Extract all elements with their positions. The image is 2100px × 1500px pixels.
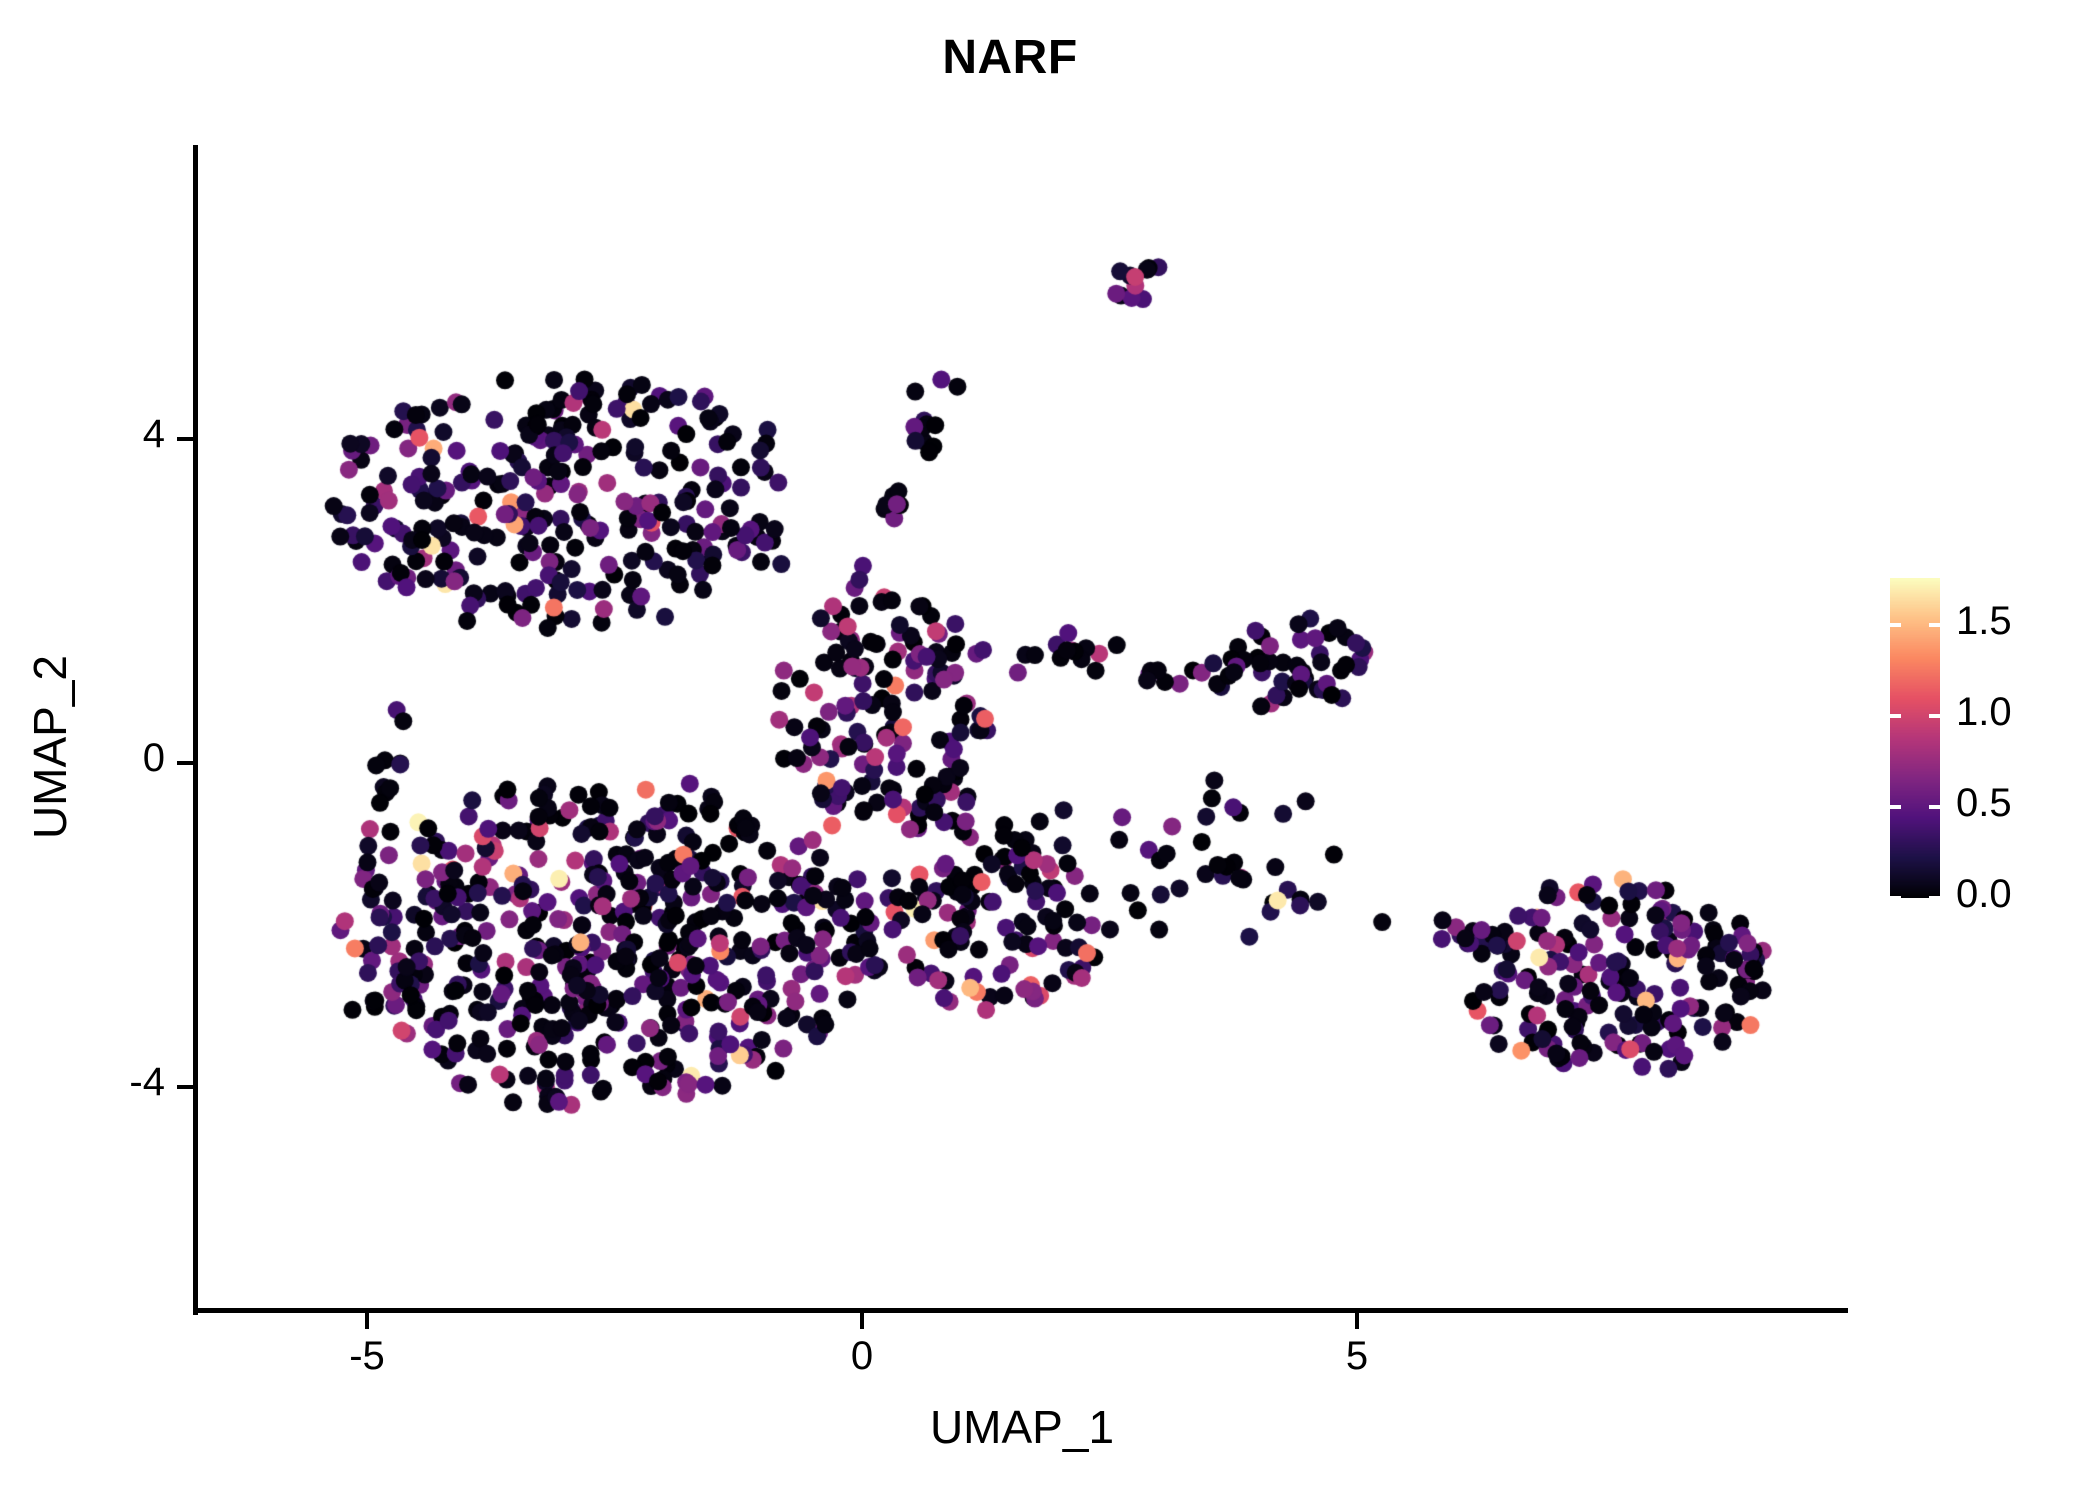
x-axis-line — [193, 1308, 1848, 1313]
colorbar-tick-mark — [1929, 805, 1940, 809]
plot-panel — [197, 145, 1847, 1311]
y-tick — [177, 437, 193, 441]
x-axis-title: UMAP_1 — [197, 1400, 1847, 1454]
y-axis-line — [193, 145, 198, 1315]
x-tick — [365, 1313, 369, 1329]
y-tick — [177, 761, 193, 765]
colorbar-tick-label: 1.0 — [1956, 690, 2012, 735]
page-title: NARF — [0, 30, 2020, 85]
colorbar-tick-label: 1.5 — [1956, 599, 2012, 644]
colorbar-tick-mark — [1890, 896, 1901, 900]
y-axis-title: UMAP_2 — [23, 162, 77, 1332]
y-tick — [177, 1085, 193, 1089]
colorbar-tick-mark — [1929, 714, 1940, 718]
x-tick-label: -5 — [307, 1334, 427, 1379]
x-tick — [860, 1313, 864, 1329]
colorbar-tick-mark — [1890, 805, 1901, 809]
x-tick-label: 0 — [802, 1334, 922, 1379]
colorbar-tick-mark — [1929, 623, 1940, 627]
x-tick-label: 5 — [1297, 1334, 1417, 1379]
colorbar-tick-label: 0.0 — [1956, 872, 2012, 917]
colorbar-tick-mark — [1929, 896, 1940, 900]
x-tick — [1355, 1313, 1359, 1329]
colorbar-tick-label: 0.5 — [1956, 781, 2012, 826]
colorbar-tick-mark — [1890, 714, 1901, 718]
colorbar-tick-mark — [1890, 623, 1901, 627]
chart-root: NARF -505 40-4 UMAP_1 UMAP_2 0.00.51.01.… — [0, 0, 2100, 1500]
